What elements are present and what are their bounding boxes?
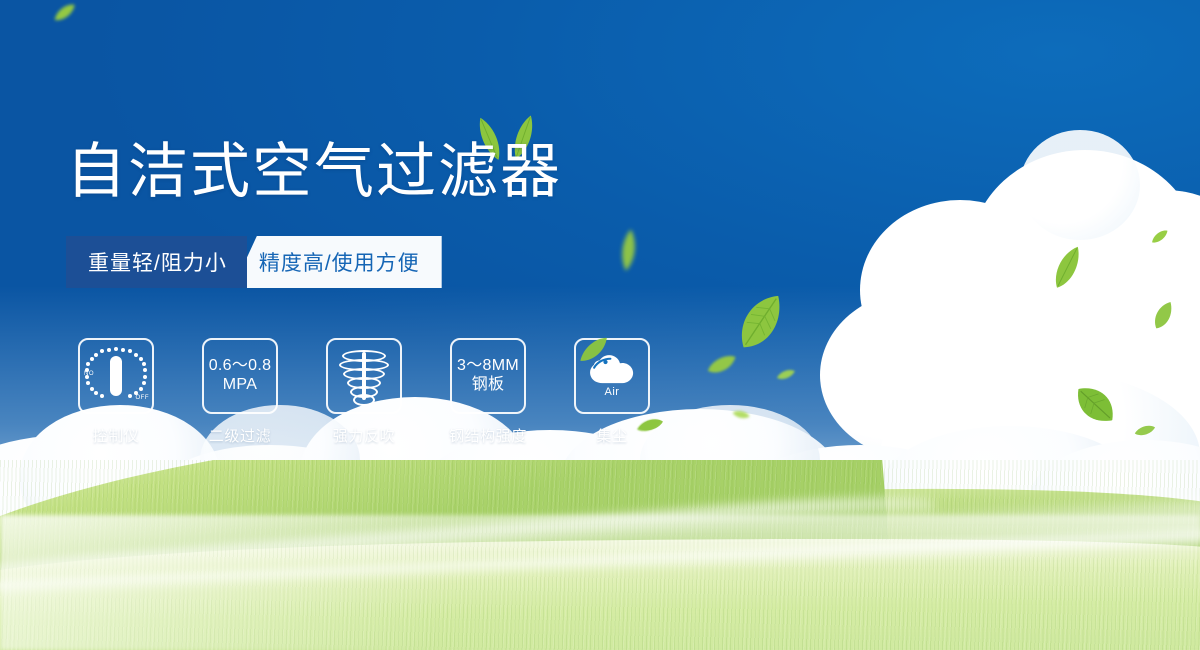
gauge-icon: NO OFF [87, 347, 145, 405]
feature-label: 强力反吹 [326, 425, 402, 446]
pressure-text-icon: 0.6～0.8 MPA [209, 357, 272, 395]
steel-plate-text-icon: 3～8MM 钢板 [457, 357, 519, 395]
gauge-label-off: OFF [136, 395, 150, 401]
tagline-badge-secondary: 精度高/使用方便 [233, 236, 442, 288]
page-title: 自洁式空气过滤器 [66, 142, 562, 202]
feature-icon-box: NO OFF [78, 338, 154, 414]
feature-label: 钢结构强度 [434, 425, 542, 446]
gauge-label-no: NO [84, 371, 94, 377]
feature-item: NO OFF 控制仪 [78, 338, 154, 446]
feature-item: 强力反吹 [326, 338, 402, 446]
feature-icon-box: 0.6～0.8 MPA [202, 338, 278, 414]
feature-icon-box [326, 338, 402, 414]
gauge-needle [110, 356, 122, 396]
steel-line-2: 钢板 [457, 376, 519, 395]
feature-icon-box: 3～8MM 钢板 [450, 338, 526, 414]
coil-blowback-icon [336, 348, 392, 404]
feature-item: 3～8MM 钢板 钢结构强度 [450, 338, 526, 446]
feature-list: NO OFF 控制仪 0.6～0.8 MPA 二级过滤 [78, 338, 650, 446]
cloud-air-caption: Air [605, 386, 620, 398]
feature-item: 0.6～0.8 MPA 二级过滤 [202, 338, 278, 446]
product-banner: 自洁式空气过滤器 重量轻/阻力小 精度高/使用方便 [0, 0, 1200, 650]
feature-label: 控制仪 [78, 425, 154, 446]
pressure-line-2: MPA [209, 376, 272, 395]
feature-label: 二级过滤 [202, 425, 278, 446]
pressure-line-1: 0.6～0.8 [209, 357, 272, 376]
banner-content: 自洁式空气过滤器 重量轻/阻力小 精度高/使用方便 [0, 0, 1200, 650]
tagline-badges: 重量轻/阻力小 精度高/使用方便 [66, 236, 442, 288]
leaf-icon [637, 417, 664, 435]
steel-line-1: 3～8MM [457, 357, 519, 376]
tagline-badge-primary: 重量轻/阻力小 [66, 236, 247, 288]
